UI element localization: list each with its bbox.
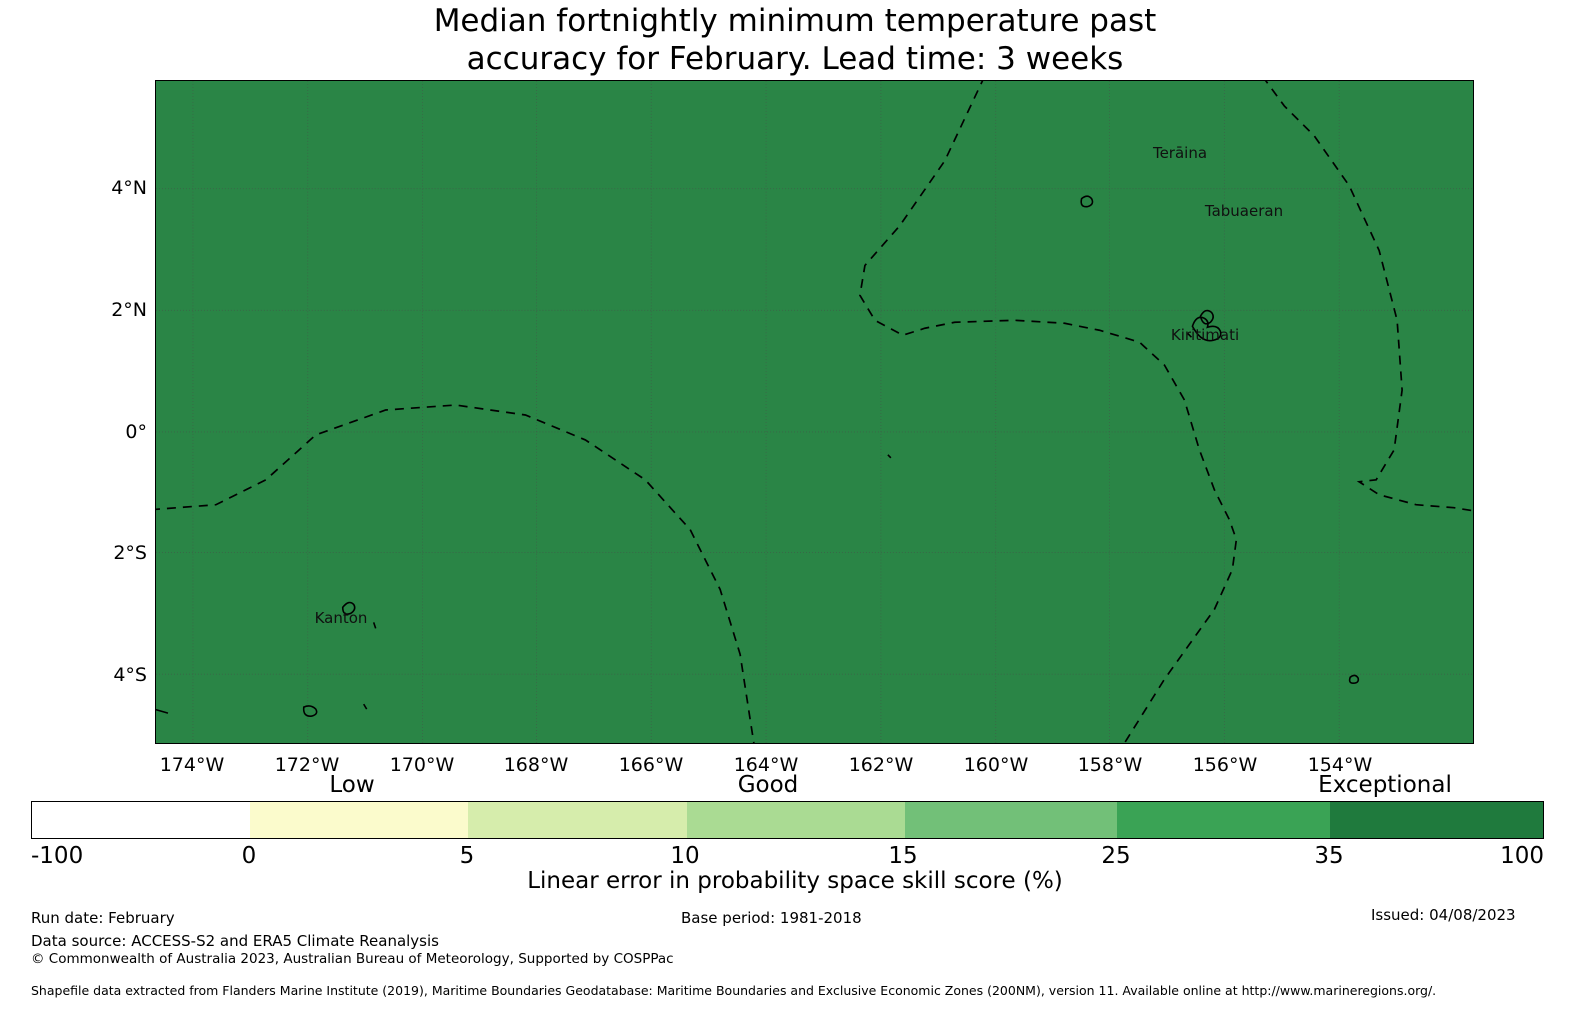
colorbar-segment-25-35 [1117,802,1330,838]
colorbar-axis-label: Linear error in probability space skill … [0,868,1590,894]
issued-date-text: Issued: 04/08/2023 [1371,906,1516,924]
colorbar-tick-100: 100 [1500,843,1544,869]
figure-canvas: Median fortnightly minimum temperature p… [0,0,1590,1020]
copyright-text: © Commonwealth of Australia 2023, Austra… [31,951,674,967]
eez-boundary-lines [156,81,1473,743]
colorbar-category-exceptional: Exceptional [1318,772,1452,798]
colorbar-category-low: Low [329,772,374,798]
page-title: Median fortnightly minimum temperature p… [0,2,1590,78]
y-tick-2n: 2°N [0,299,147,321]
colorbar-tick-0: 0 [242,843,257,869]
y-tick-2s: 2°S [0,542,147,564]
base-period-text: Base period: 1981-2018 [681,909,862,927]
x-tick-160w: 160°W [964,754,1029,776]
colorbar-tick-15: 15 [888,843,917,869]
map-overlay-svg [156,81,1473,743]
colorbar-tick-35: 35 [1314,843,1343,869]
colorbar[interactable] [31,801,1544,839]
colorbar-segment-neg100-0 [32,802,250,838]
x-tick-156w: 156°W [1193,754,1258,776]
y-tick-4s: 4°S [0,664,147,686]
colorbar-segment-35-100 [1330,802,1543,838]
x-tick-162w: 162°W [849,754,914,776]
colorbar-tick-25: 25 [1101,843,1130,869]
x-tick-170w: 170°W [390,754,455,776]
y-tick-0: 0° [0,421,147,443]
colorbar-tick-neg100: -100 [31,843,83,869]
place-label-kiritimati: Kiritimati [1171,326,1239,344]
island-outlines [156,196,1358,716]
colorbar-segment-5-10 [468,802,686,838]
place-label-teraina: Terāina [1153,144,1207,162]
place-label-tabuaeran: Tabuaeran [1205,202,1283,220]
colorbar-segment-0-5 [250,802,468,838]
map-gridlines [156,81,1473,743]
shapefile-attribution-text: Shapefile data extracted from Flanders M… [31,983,1436,998]
x-tick-166w: 166°W [619,754,684,776]
x-tick-174w: 174°W [160,754,225,776]
place-label-kanton: Kanton [315,609,368,627]
run-date-text: Run date: February [31,909,175,927]
colorbar-segment-15-25 [905,802,1118,838]
map-plot-area[interactable]: Terāina Tabuaeran Kiritimati Kanton [155,80,1474,744]
colorbar-category-good: Good [738,772,799,798]
colorbar-segment-10-15 [687,802,905,838]
data-source-text: Data source: ACCESS-S2 and ERA5 Climate … [31,932,439,950]
y-tick-4n: 4°N [0,177,147,199]
x-tick-168w: 168°W [504,754,569,776]
colorbar-tick-5: 5 [460,843,475,869]
colorbar-tick-10: 10 [670,843,699,869]
x-tick-158w: 158°W [1078,754,1143,776]
